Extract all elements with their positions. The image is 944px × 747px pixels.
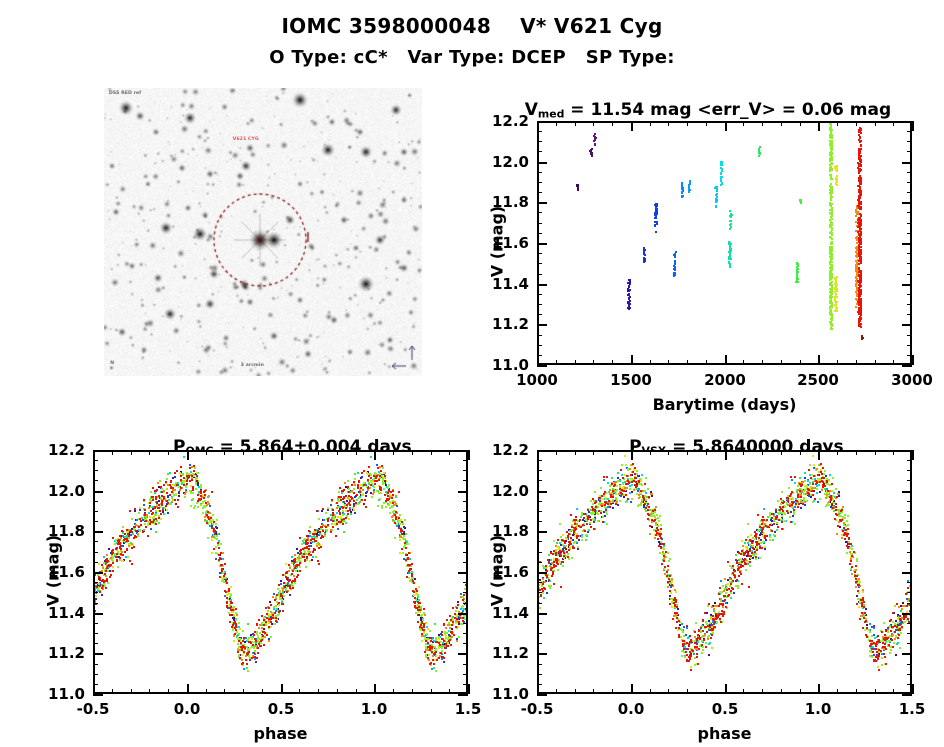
data-point (890, 649, 892, 651)
data-point (537, 596, 538, 598)
data-point (777, 500, 779, 502)
data-point (617, 504, 619, 506)
data-point (662, 547, 664, 549)
data-point (569, 530, 571, 532)
data-point (720, 580, 722, 582)
data-point (658, 520, 660, 522)
data-point (816, 485, 818, 487)
data-point (629, 492, 631, 494)
data-point (581, 539, 583, 541)
data-point (819, 491, 821, 493)
data-point (559, 523, 561, 525)
data-point (631, 484, 633, 486)
data-point (612, 507, 614, 509)
data-point (568, 558, 570, 560)
phase-vsx-plot-area[interactable] (537, 450, 912, 694)
data-point (574, 541, 576, 543)
data-point (818, 484, 820, 486)
data-point (759, 557, 761, 559)
data-point (849, 547, 851, 549)
data-point (730, 592, 732, 594)
data-point (597, 506, 599, 508)
data-point (828, 504, 830, 506)
data-point (776, 529, 778, 531)
data-point (823, 473, 825, 475)
data-point (794, 523, 796, 525)
data-point (773, 534, 775, 536)
data-point (803, 493, 805, 495)
data-point (708, 635, 710, 637)
data-point (826, 483, 828, 485)
data-point (577, 546, 579, 548)
data-point (553, 540, 555, 542)
data-point (621, 474, 623, 476)
data-point (803, 490, 805, 492)
data-point (638, 483, 640, 485)
data-point (806, 500, 808, 502)
data-point (737, 585, 739, 587)
data-point (817, 501, 819, 503)
data-point (636, 470, 638, 472)
data-point (659, 515, 661, 517)
data-point (623, 496, 625, 498)
data-point (617, 480, 619, 482)
data-point (757, 530, 759, 532)
data-point (744, 542, 746, 544)
data-point (895, 635, 897, 637)
data-point (784, 506, 786, 508)
data-point (765, 539, 767, 541)
data-point (781, 491, 783, 493)
data-point (685, 634, 687, 636)
data-point (671, 581, 673, 583)
data-point (578, 539, 580, 541)
data-point (828, 480, 830, 482)
data-point (894, 605, 896, 607)
data-point (779, 511, 781, 513)
data-point (889, 652, 891, 654)
data-point (813, 464, 815, 466)
data-point (781, 515, 783, 517)
data-point (750, 557, 752, 559)
data-point (804, 485, 806, 487)
data-point (617, 472, 619, 474)
data-point (644, 490, 646, 492)
data-point (900, 632, 902, 634)
data-point (596, 512, 598, 514)
data-point (769, 539, 771, 541)
data-point (858, 592, 860, 594)
data-point (747, 542, 749, 544)
data-point (730, 597, 732, 599)
data-point (904, 621, 906, 623)
data-point (774, 531, 776, 533)
data-point (812, 501, 814, 503)
data-point (792, 515, 794, 517)
data-point (548, 554, 550, 556)
data-point (690, 666, 692, 668)
data-point (764, 546, 766, 548)
data-point (629, 488, 631, 490)
data-point (562, 565, 564, 567)
data-point (659, 552, 661, 554)
data-point (708, 654, 710, 656)
data-point (804, 472, 806, 474)
data-point (640, 504, 642, 506)
data-point (797, 485, 799, 487)
data-point (606, 523, 608, 525)
data-point (791, 479, 793, 481)
data-point (859, 581, 861, 583)
data-point (682, 631, 684, 633)
data-point (669, 595, 671, 597)
data-point (800, 507, 802, 509)
data-point (592, 511, 594, 513)
data-point (812, 455, 814, 457)
data-point (637, 505, 639, 507)
data-point (559, 542, 561, 544)
data-point (705, 642, 707, 644)
data-point (840, 515, 842, 517)
data-point (716, 621, 718, 623)
data-point (582, 519, 584, 521)
data-point (563, 557, 565, 559)
data-point (764, 548, 766, 550)
data-point (770, 519, 772, 521)
data-point (835, 488, 837, 490)
data-point (605, 497, 607, 499)
data-point (629, 485, 631, 487)
data-point (749, 565, 751, 567)
data-point (847, 515, 849, 517)
data-point (846, 552, 848, 554)
data-point (557, 569, 559, 571)
data-point (804, 504, 806, 506)
data-point (670, 592, 672, 594)
data-point (542, 592, 544, 594)
data-point (625, 464, 627, 466)
data-point (899, 647, 901, 649)
data-point (776, 522, 778, 524)
data-point (637, 475, 639, 477)
data-point (594, 491, 596, 493)
data-point (788, 487, 790, 489)
data-point (702, 649, 704, 651)
data-point (793, 513, 795, 515)
data-point (615, 490, 617, 492)
data-point (896, 643, 898, 645)
data-point (686, 627, 688, 629)
data-point (762, 541, 764, 543)
data-point (707, 605, 709, 607)
data-point (668, 560, 670, 562)
data-point (624, 455, 626, 457)
data-point (711, 647, 713, 649)
data-point (585, 539, 587, 541)
data-point (816, 488, 818, 490)
data-point (794, 482, 796, 484)
data-point (725, 602, 727, 604)
data-point (640, 480, 642, 482)
data-point (911, 596, 913, 598)
data-point (792, 497, 794, 499)
data-point (777, 512, 779, 514)
data-point (616, 485, 618, 487)
data-point (587, 531, 589, 533)
data-point (543, 597, 545, 599)
data-point (650, 515, 652, 517)
data-point (877, 666, 879, 668)
data-point (588, 529, 590, 531)
data-point (722, 585, 724, 587)
data-point (645, 477, 647, 479)
data-point (733, 592, 735, 594)
data-point (769, 536, 771, 538)
data-point (607, 482, 609, 484)
data-point (701, 652, 703, 654)
data-point (615, 497, 617, 499)
data-point (695, 622, 697, 624)
data-point (606, 513, 608, 515)
phase-vsx-panel: PVSX = 5.8640000 days V (mag) phase -0.5… (0, 0, 944, 747)
data-point (590, 500, 592, 502)
data-point (819, 498, 821, 500)
data-point (641, 474, 643, 476)
data-point (831, 490, 833, 492)
data-point (856, 560, 858, 562)
data-point (869, 631, 871, 633)
data-point (838, 515, 840, 517)
data-point (546, 592, 548, 594)
data-point (809, 464, 811, 466)
data-point (871, 635, 873, 637)
data-point (846, 520, 848, 522)
data-point (816, 492, 818, 494)
data-point (604, 515, 606, 517)
data-point (745, 569, 747, 571)
data-point (755, 558, 757, 560)
data-point (832, 477, 834, 479)
data-point (647, 488, 649, 490)
data-point (881, 657, 883, 659)
data-point (725, 592, 727, 594)
data-point (602, 516, 604, 518)
data-point (856, 595, 858, 597)
data-point (576, 508, 578, 510)
data-point (600, 487, 602, 489)
data-point (656, 514, 658, 516)
data-point (609, 485, 611, 487)
data-point (653, 515, 655, 517)
data-point (683, 635, 685, 637)
data-point (784, 520, 786, 522)
data-point (636, 473, 638, 475)
data-point (581, 536, 583, 538)
data-point (824, 470, 826, 472)
data-point (869, 650, 871, 652)
data-point (825, 475, 827, 477)
data-point (809, 483, 811, 485)
data-point (594, 515, 596, 517)
data-point (631, 491, 633, 493)
data-point (611, 477, 613, 479)
data-point (597, 520, 599, 522)
data-point (799, 477, 801, 479)
data-point (847, 524, 849, 526)
data-point (883, 622, 885, 624)
data-point (712, 632, 714, 634)
data-point (719, 591, 721, 593)
data-point (550, 585, 552, 587)
data-point (590, 512, 592, 514)
data-point (615, 493, 617, 495)
data-point (625, 501, 627, 503)
data-point (810, 496, 812, 498)
data-point (829, 474, 831, 476)
data-point (909, 585, 911, 587)
data-point (622, 483, 624, 485)
data-point (630, 501, 632, 503)
data-point (585, 534, 587, 536)
data-point (873, 627, 875, 629)
data-point (873, 634, 875, 636)
data-point (556, 542, 558, 544)
data-point (833, 492, 835, 494)
data-point (844, 514, 846, 516)
data-point (772, 539, 774, 541)
data-point (741, 540, 743, 542)
data-point (660, 524, 662, 526)
data-point (763, 508, 765, 510)
data-point (645, 492, 647, 494)
data-point (804, 480, 806, 482)
data-point (789, 516, 791, 518)
data-point (869, 623, 871, 625)
data-point (577, 548, 579, 550)
data-point (603, 479, 605, 481)
data-point (589, 522, 591, 524)
data-point (571, 557, 573, 559)
data-point (893, 642, 895, 644)
data-point (803, 497, 805, 499)
data-point (825, 505, 827, 507)
data-point (708, 643, 710, 645)
data-point (681, 650, 683, 652)
data-point (631, 498, 633, 500)
data-point (783, 512, 785, 514)
data-point (747, 523, 749, 525)
data-point (895, 654, 897, 656)
data-point (681, 623, 683, 625)
data-point (621, 464, 623, 466)
data-point (809, 474, 811, 476)
data-point (694, 657, 696, 659)
data-point (619, 500, 621, 502)
data-point (735, 554, 737, 556)
